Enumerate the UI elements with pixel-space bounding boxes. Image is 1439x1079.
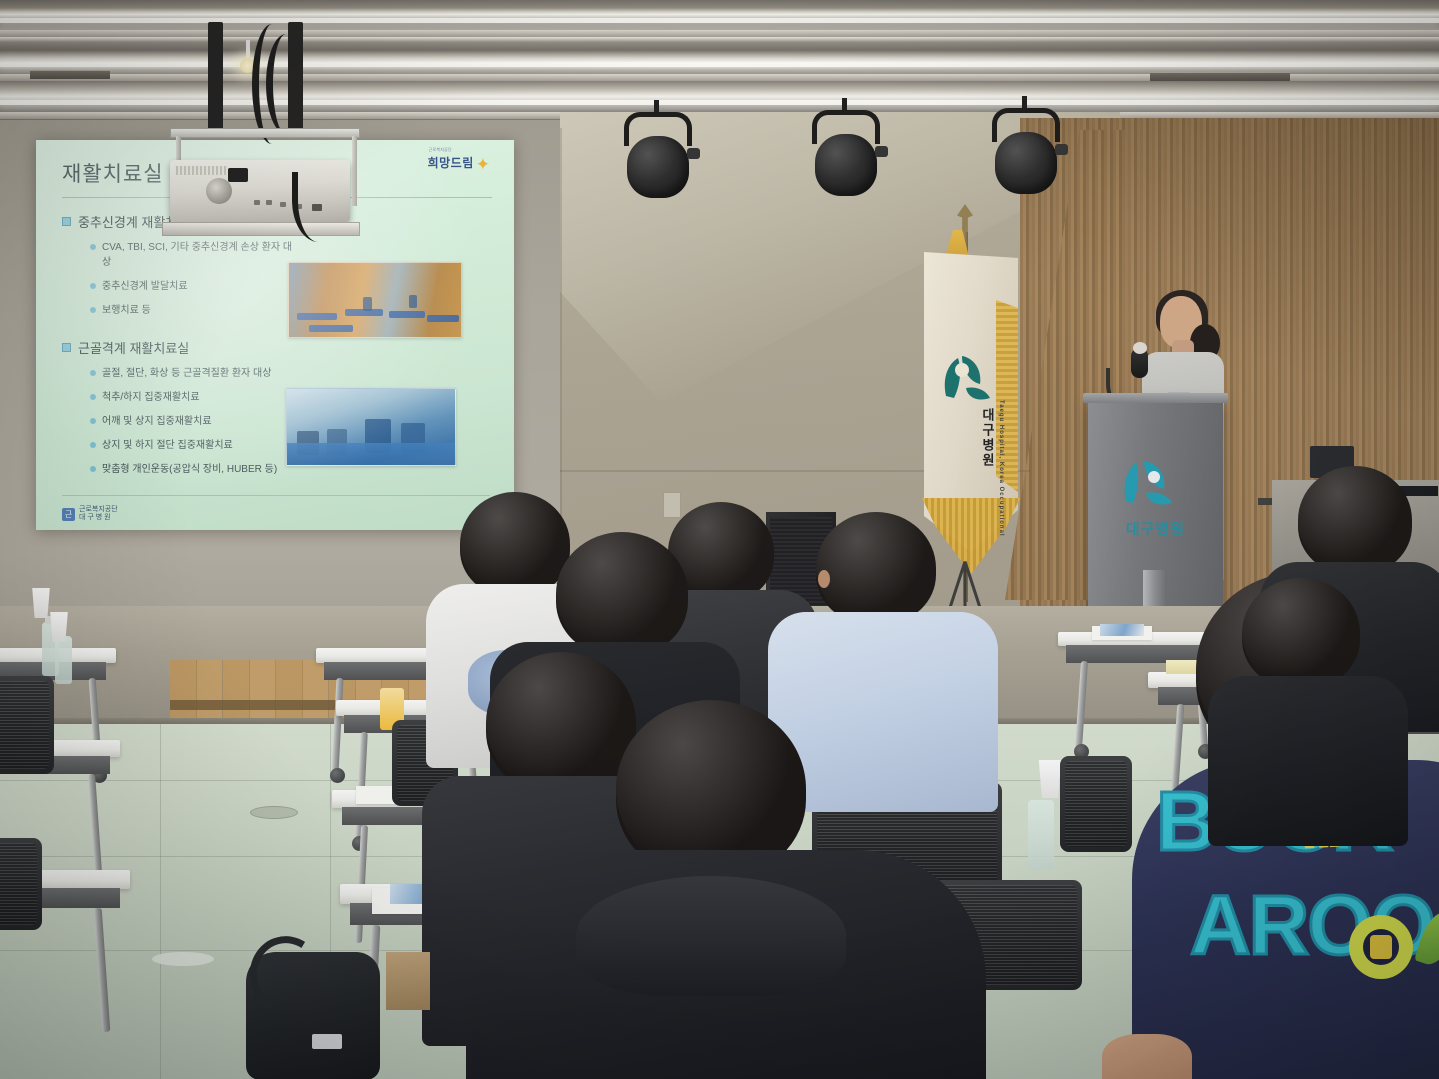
projector-mount-plate [170,128,360,138]
stage-spotlight [808,110,884,202]
slide-section-heading: 근골격계 재활치료실 [62,338,492,357]
projector-vent [176,166,228,175]
slide-bullet: 척추/하지 집중재활치료 [90,390,295,405]
cardboard-box [386,952,430,1010]
flag-text-korean: 대구병원 [978,408,997,468]
section-2-bullet-5: 맞춤형 개인운동(공압식 장비, HUBER 등) [102,462,277,477]
hospital-logo-icon [1114,455,1178,513]
projector-mount-column [352,136,357,206]
water-bottle [1028,800,1054,870]
section-2-bullet-2: 척추/하지 집중재활치료 [102,390,200,405]
footer-branch-name: 대 구 병 원 [79,514,118,522]
slide-bullet: 맞춤형 개인운동(공압식 장비, HUBER 등) [90,462,295,477]
section-2-heading: 근골격계 재활치료실 [78,338,189,357]
jacket-hood [576,876,846,996]
chair [0,838,42,930]
backpack-label [312,1034,342,1049]
slide-footer-rule [62,495,490,496]
hand [1102,1034,1192,1079]
slide-footer-logo: 근 근로복지공단 대 구 병 원 [62,506,118,522]
ceiling-vent [1150,72,1290,81]
flag-text-english: Taegu Hospital, Korea Occupational [998,400,1004,537]
printed-handout [1100,624,1144,636]
microphone-windscreen [1133,342,1147,354]
square-bullet-icon [62,217,71,226]
lectern: 대구병원 [1088,400,1223,628]
projector-lens [206,178,232,204]
slide-logo-subtext: 근로복지공단 [429,147,452,153]
chair [1060,756,1132,852]
round-bullet-icon [90,370,96,376]
round-bullet-icon [90,466,96,472]
slide-photo-musculoskeletal-gym [286,388,456,466]
slide-bullet: 어깨 및 상지 집중재활치료 [90,414,295,429]
stage-spotlight [620,112,696,204]
ceiling-vent [30,70,110,79]
slide-brand-logo: 근로복지공단 희망드림 ✦ [428,154,490,171]
section-1-bullet-2: 중추신경계 발달치료 [102,279,188,294]
slide-bullet: 골절, 절단, 화상 등 근골격질환 환자 대상 [90,366,295,381]
floor-outlet-cover [250,806,298,819]
stage-spotlight [988,108,1064,200]
slide-bullet: 중추신경계 발달치료 [90,279,295,294]
section-1-bullet-3: 보행치료 등 [102,303,151,318]
round-bullet-icon [90,307,96,313]
podium-hospital-name: 대구병원 [1088,518,1223,539]
round-bullet-icon [90,244,96,250]
section-2-bullet-3: 어깨 및 상지 집중재활치료 [102,414,212,429]
round-bullet-icon [90,418,96,424]
projector-cable [266,34,306,134]
section-1-bullet-1: CVA, TBI, SCI, 기타 중추신경계 손상 환자 대상 [102,240,295,270]
water-bottle [55,636,72,684]
slide-bullet: 보행치료 등 [90,303,295,318]
chair [0,676,54,774]
round-bullet-icon [90,442,96,448]
lectern-top [1083,393,1228,403]
section-2-bullet-4: 상지 및 하지 절단 집중재활치료 [102,438,233,453]
section-2-bullet-1: 골절, 절단, 화상 등 근골격질환 환자 대상 [102,366,271,381]
slide-bullet: CVA, TBI, SCI, 기타 중추신경계 손상 환자 대상 [90,240,295,270]
wall-outlet-box [663,492,681,518]
lecture-hall-photo: 재활치료실 안내 근로복지공단 희망드림 ✦ 중추신경계 재활치료실 CVA, … [0,0,1439,1079]
floor-plate [152,952,214,966]
slide-photo-neuro-therapy-room [288,262,462,338]
slide-logo-text: 희망드림 [428,154,474,171]
footer-org-name: 근로복지공단 [79,506,118,514]
butterfly-icon: ✦ [476,158,490,171]
backpack [246,952,380,1079]
square-bullet-icon [62,343,71,352]
round-bullet-icon [90,394,96,400]
projector-mount-rod [208,22,223,134]
slide-bullet: 상지 및 하지 절단 집중재활치료 [90,438,295,453]
flag-emblem-icon [932,348,998,408]
projector-connector [228,168,248,182]
org-logo-icon: 근 [62,508,75,521]
round-bullet-icon [90,283,96,289]
tshirt-gear-icon [1354,920,1408,974]
